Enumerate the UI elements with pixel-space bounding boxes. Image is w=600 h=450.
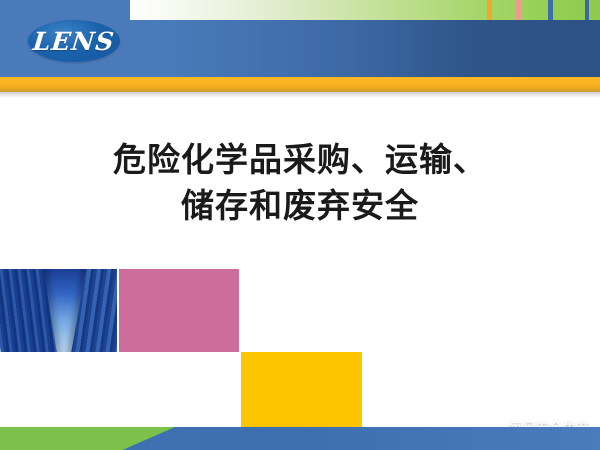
lens-logo: LENS <box>28 20 120 62</box>
strip-orange-bar <box>487 0 492 20</box>
presentation-slide: LENS 危险化学品采购、运输、 储存和废弃安全 每日安全生产 <box>0 0 600 450</box>
photo-collage <box>0 269 600 427</box>
strip-pink-bar <box>516 0 521 20</box>
lens-logo-text: LENS <box>32 29 116 54</box>
strip-blue-bar <box>548 0 553 20</box>
strip-blue-bar-2 <box>585 0 589 20</box>
slide-header: LENS <box>0 0 600 92</box>
collage-yellow-panel <box>241 352 362 427</box>
collage-glass-towers-upward <box>0 269 117 352</box>
header-green-gradient-strip <box>130 0 600 20</box>
slide-footer <box>0 427 600 450</box>
title-line-1: 危险化学品采购、运输、 <box>113 137 487 183</box>
title-line-2: 储存和废弃安全 <box>181 183 419 229</box>
collage-pink-panel <box>119 269 239 352</box>
header-orange-stripe <box>0 77 600 92</box>
slide-title: 危险化学品采购、运输、 储存和废弃安全 <box>0 98 600 268</box>
